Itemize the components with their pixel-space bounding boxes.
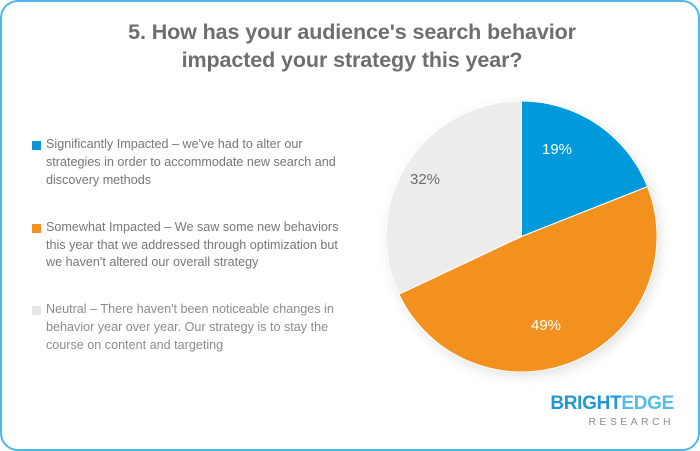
logo-wordmark: BRIGHTEDGE: [550, 394, 674, 413]
legend-swatch-icon: [32, 224, 41, 233]
logo-word-edge: EDGE: [621, 393, 674, 414]
legend-item-label: Significantly Impacted – we've had to al…: [46, 136, 348, 190]
pie-chart-svg: [386, 101, 657, 372]
legend-item-label: Neutral – There haven't been noticeable …: [46, 301, 348, 355]
slide-canvas: 5. How has your audience's search behavi…: [0, 0, 700, 451]
legend-item-neutral[interactable]: Neutral – There haven't been noticeable …: [32, 301, 348, 355]
pie-slice-label-significantly-impacted: 19%: [542, 141, 572, 158]
page-title-line-1: 5. How has your audience's search behavi…: [62, 18, 642, 46]
pie-chart: 19% 49% 32%: [386, 101, 657, 372]
legend-item-label: Somewhat Impacted – We saw some new beha…: [46, 219, 348, 273]
page-title-line-2: impacted your strategy this year?: [62, 46, 642, 74]
legend-swatch-icon: [32, 141, 41, 150]
pie-slice-label-neutral: 32%: [410, 171, 440, 188]
brightedge-research-logo: BRIGHTEDGE RESEARCH: [550, 394, 674, 428]
legend-item-significantly-impacted[interactable]: Significantly Impacted – we've had to al…: [32, 136, 348, 190]
page-title: 5. How has your audience's search behavi…: [62, 18, 642, 75]
legend-item-somewhat-impacted[interactable]: Somewhat Impacted – We saw some new beha…: [32, 219, 348, 273]
legend-swatch-icon: [32, 306, 41, 315]
logo-word-bright: BRIGHT: [550, 393, 621, 414]
pie-slice-label-somewhat-impacted: 49%: [531, 317, 561, 334]
chart-legend: Significantly Impacted – we've had to al…: [32, 136, 348, 384]
logo-subtitle: RESEARCH: [550, 417, 674, 428]
